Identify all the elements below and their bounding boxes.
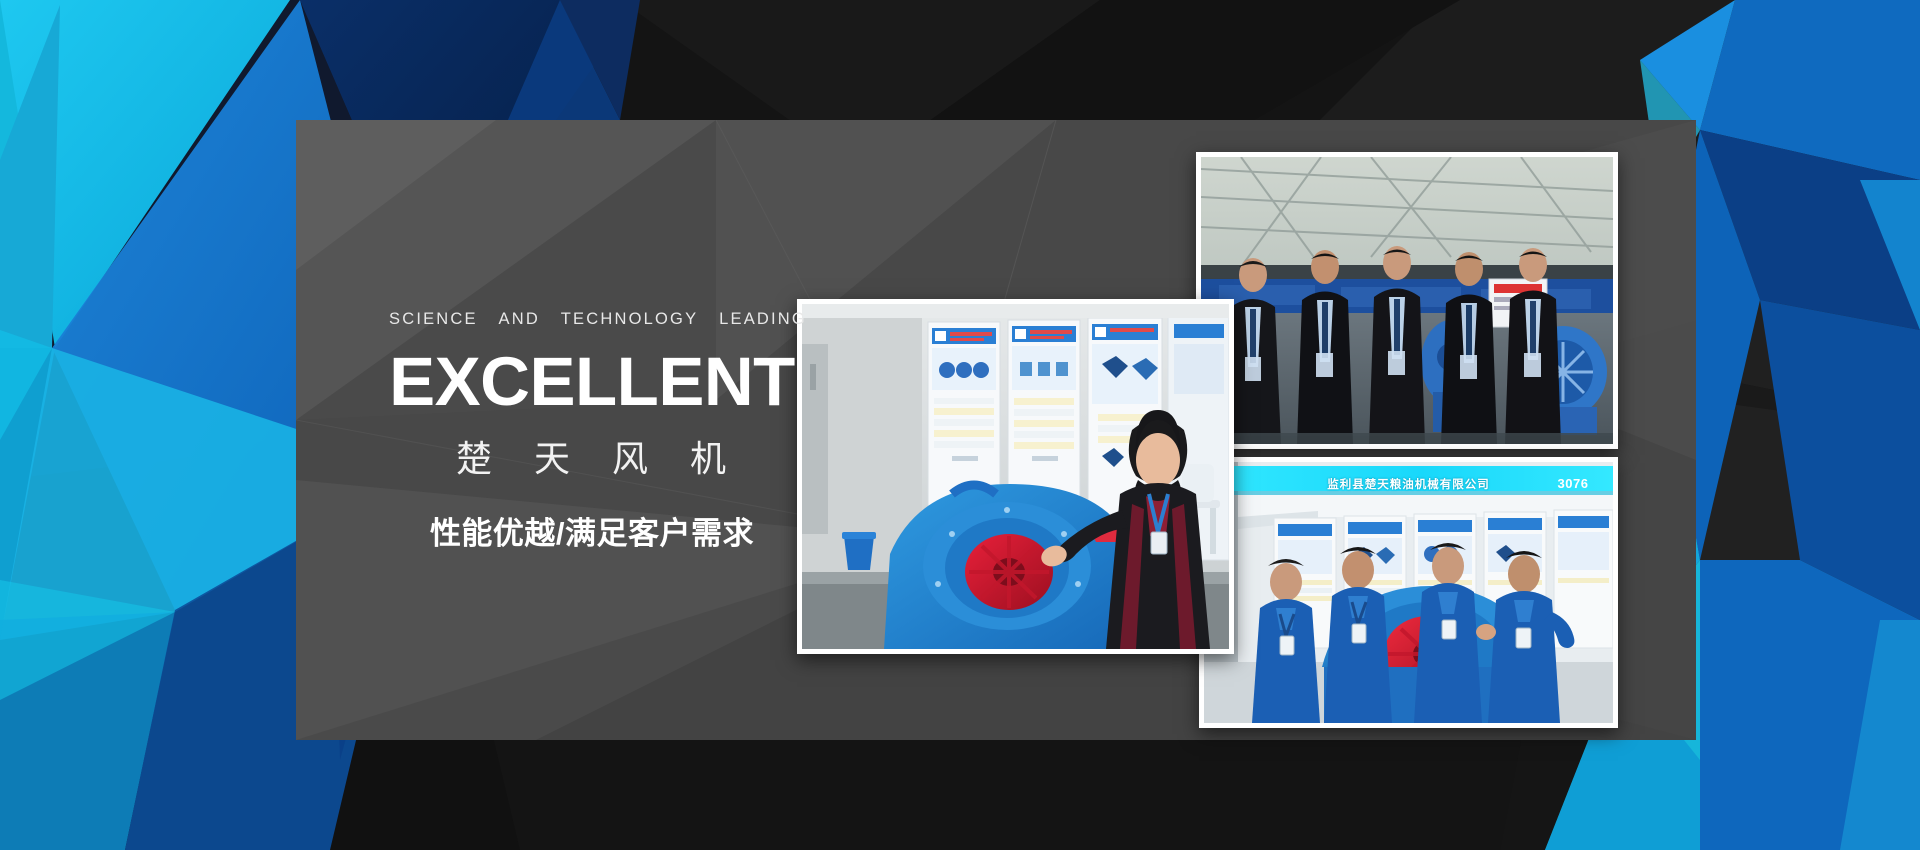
brand-char-1: 天 [534,430,572,482]
eyebrow-word-1: AND [499,310,540,328]
exhibition-staff-blue-uniform-photo: 监利县楚天粮油机械有限公司 3076 [1199,457,1618,728]
photo-art-staff-uniform [1204,462,1613,723]
hero-text-block: SCIENCE AND TECHNOLOGY LEADING EXCELLENT… [382,310,802,553]
chinese-brand-name: 楚 天 风 机 [382,430,802,482]
eyebrow-word-2: TECHNOLOGY [561,310,699,328]
eyebrow-word-0: SCIENCE [389,310,478,328]
photo-inner: 监利县楚天粮油机械有限公司 3076 [1204,462,1613,723]
photo-inner [802,304,1229,649]
exhibition-team-suits-photo [1196,152,1618,449]
brand-char-2: 风 [612,430,650,482]
eyebrow-text: SCIENCE AND TECHNOLOGY LEADING [382,310,802,329]
photo-art-hostess-fan [802,304,1229,649]
headline-excellent: EXCELLENT [382,347,802,416]
brand-char-3: 机 [690,430,728,482]
hero-banner: SCIENCE AND TECHNOLOGY LEADING EXCELLENT… [0,0,1920,850]
photo-art-team-suits [1201,157,1613,444]
brand-char-0: 楚 [456,430,494,482]
tagline-text: 性能优越/满足客户需求 [382,508,802,553]
eyebrow-word-3: LEADING [719,310,807,328]
photo-inner [1201,157,1613,444]
exhibition-hostess-fan-photo [797,299,1234,654]
